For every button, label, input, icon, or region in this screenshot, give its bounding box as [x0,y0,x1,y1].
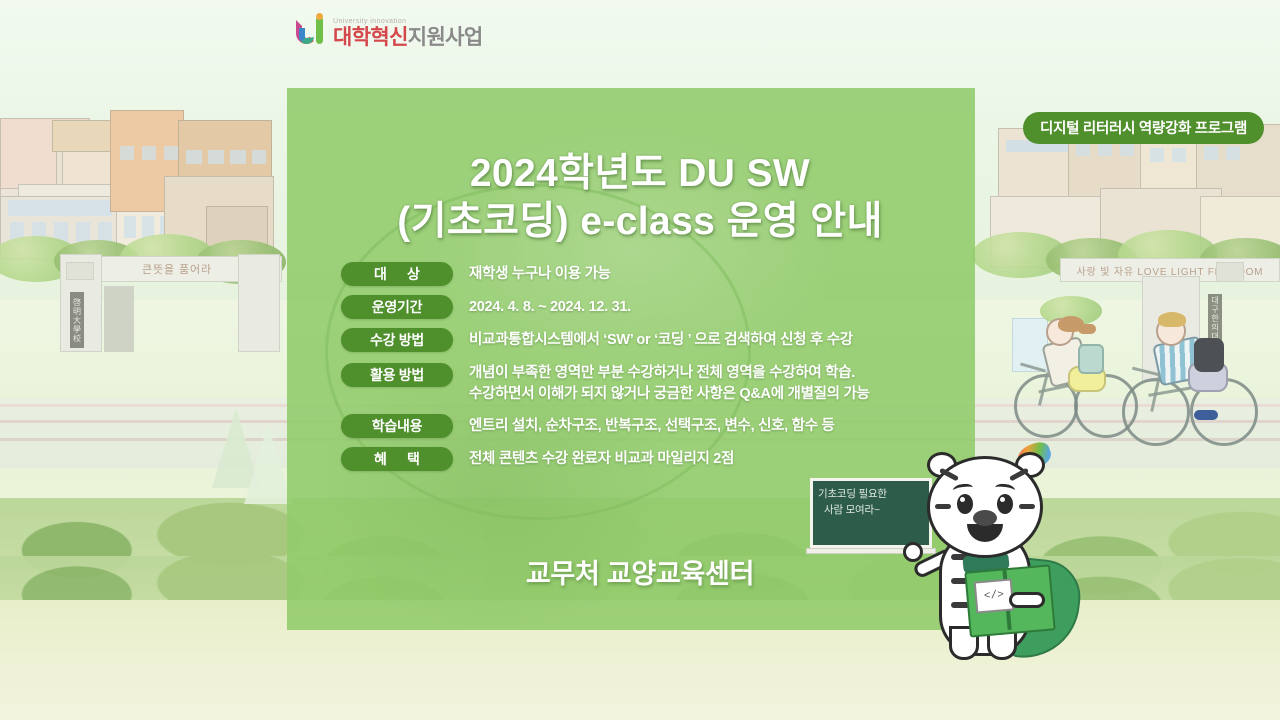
info-value-benefit-line1: 전체 콘텐츠 수강 완료자 비교과 마일리지 2점 [469,451,734,467]
info-row-period: 운영기간 2024. 4. 8. ~ 2024. 12. 31. [341,295,981,319]
mascot-eye-left [957,494,973,514]
info-row-curriculum: 학습내용 엔트리 설치, 순차구조, 반복구조, 선택구조, 변수, 신호, 함… [341,414,981,438]
info-row-benefit: 혜 택 전체 콘텐츠 수강 완료자 비교과 마일리지 2점 [341,447,981,471]
poster-canvas: 큰뜻을 품어라 啓明大學校 사랑 빛 자유 LOVE LIGHT FREEDOM… [0,0,1280,720]
program-badge: 디지털 리터러시 역량강화 프로그램 [1023,112,1264,144]
code-screen-icon: </> [974,578,1015,613]
white-tiger-mascot: </> [905,450,1105,700]
info-value-benefit: 전체 콘텐츠 수강 완료자 비교과 마일리지 2점 [469,447,734,470]
title-line-1: 2024학년도 DU SW [0,150,1280,198]
logo-korean-text: 대학혁신지원사업 [333,27,483,48]
mascot-head-stripe-3 [935,504,951,509]
page-title: 2024학년도 DU SW (기초코딩) e-class 운영 안내 [0,150,1280,245]
info-label-curriculum: 학습내용 [341,414,453,438]
info-label-period: 운영기간 [341,295,453,319]
info-value-curriculum: 엔트리 설치, 순차구조, 반복구조, 선택구조, 변수, 신호, 함수 등 [469,414,835,437]
logo-korean-b: 지원사업 [408,26,483,49]
info-value-enrollment-line1: 비교과통합시스템에서 ‘SW’ or ‘코딩 ’ 으로 검색하여 신청 후 수강 [469,332,853,348]
info-value-enrollment: 비교과통합시스템에서 ‘SW’ or ‘코딩 ’ 으로 검색하여 신청 후 수강 [469,328,853,351]
mascot-nose [973,510,997,526]
info-table: 대 상 재학생 누구나 이용 가능 운영기간 2024. 4. 8. ~ 202… [341,262,981,480]
info-label-usage: 활용 방법 [341,363,453,387]
info-value-usage: 개념이 부족한 영역만 부분 수강하거나 전체 영역을 수강하여 학습. 수강하… [469,361,870,405]
mascot-lower-arm [1009,592,1045,608]
info-value-usage-line1: 개념이 부족한 영역만 부분 수강하거나 전체 영역을 수강하여 학습. [469,365,855,381]
title-line-2: (기초코딩) e-class 운영 안내 [0,198,1280,246]
info-row-usage: 활용 방법 개념이 부족한 영역만 부분 수강하거나 전체 영역을 수강하여 학… [341,361,981,405]
mascot-head-stripe-4 [1019,504,1035,509]
info-label-benefit: 혜 택 [341,447,453,471]
logo-korean-a: 대학혁신 [333,26,408,49]
info-value-target: 재학생 누구나 이용 가능 [469,262,611,285]
logo-english-text: University innovation [333,18,483,25]
info-row-enrollment: 수강 방법 비교과통합시스템에서 ‘SW’ or ‘코딩 ’ 으로 검색하여 신… [341,328,981,352]
mascot-raised-paw [903,542,923,562]
mascot-eye-highlight-right [1000,497,1005,502]
cyclist-right [1122,300,1272,450]
logo-mark-icon [296,16,326,50]
info-row-target: 대 상 재학생 누구나 이용 가능 [341,262,981,286]
info-value-target-line1: 재학생 누구나 이용 가능 [469,266,611,282]
info-value-usage-line2: 수강하면서 이해가 되지 않거나 궁금한 사항은 Q&A에 개별질의 가능 [469,384,870,405]
mascot-eye-right [997,494,1013,514]
mascot-eye-highlight-left [960,497,965,502]
left-gate-plate: 啓明大學校 [70,292,84,348]
info-value-period: 2024. 4. 8. ~ 2024. 12. 31. [469,295,631,318]
program-logo: University innovation 대학혁신지원사업 [296,16,483,50]
info-value-curriculum-line1: 엔트리 설치, 순차구조, 반복구조, 선택구조, 변수, 신호, 함수 등 [469,418,835,434]
info-value-period-line1: 2024. 4. 8. ~ 2024. 12. 31. [469,299,631,315]
info-label-enrollment: 수강 방법 [341,328,453,352]
info-label-target: 대 상 [341,262,453,286]
